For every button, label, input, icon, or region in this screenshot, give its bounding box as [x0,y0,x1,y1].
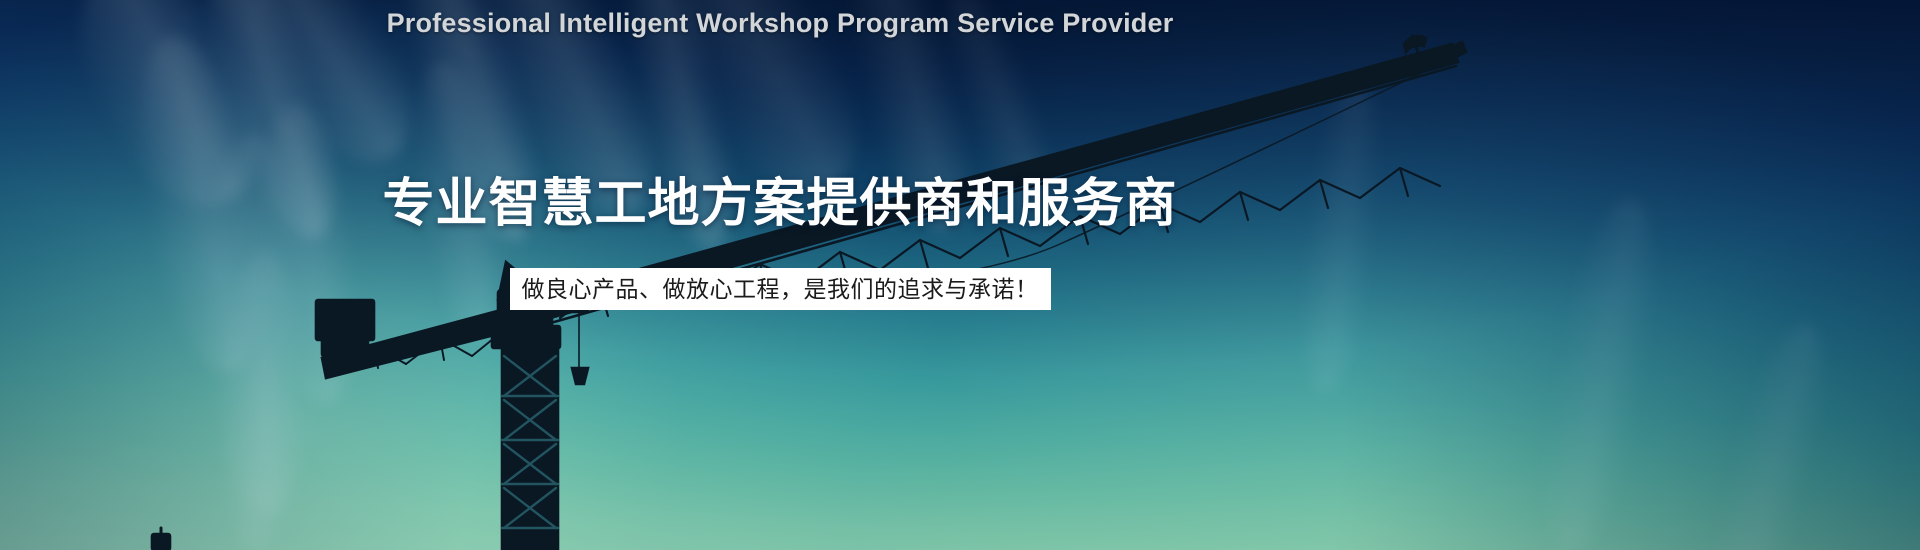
banner-subtitle-container: 做良心产品、做放心工程，是我们的追求与承诺！ [0,268,1560,310]
banner-eyebrow-english-tagline: Professional Intelligent Workshop Progra… [0,8,1560,39]
banner-content: Professional Intelligent Workshop Progra… [0,0,1920,550]
banner-subtitle-badge: 做良心产品、做放心工程，是我们的追求与承诺！ [510,268,1051,310]
banner-headline: 专业智慧工地方案提供商和服务商 [0,161,1560,236]
hero-banner: Professional Intelligent Workshop Progra… [0,0,1920,550]
